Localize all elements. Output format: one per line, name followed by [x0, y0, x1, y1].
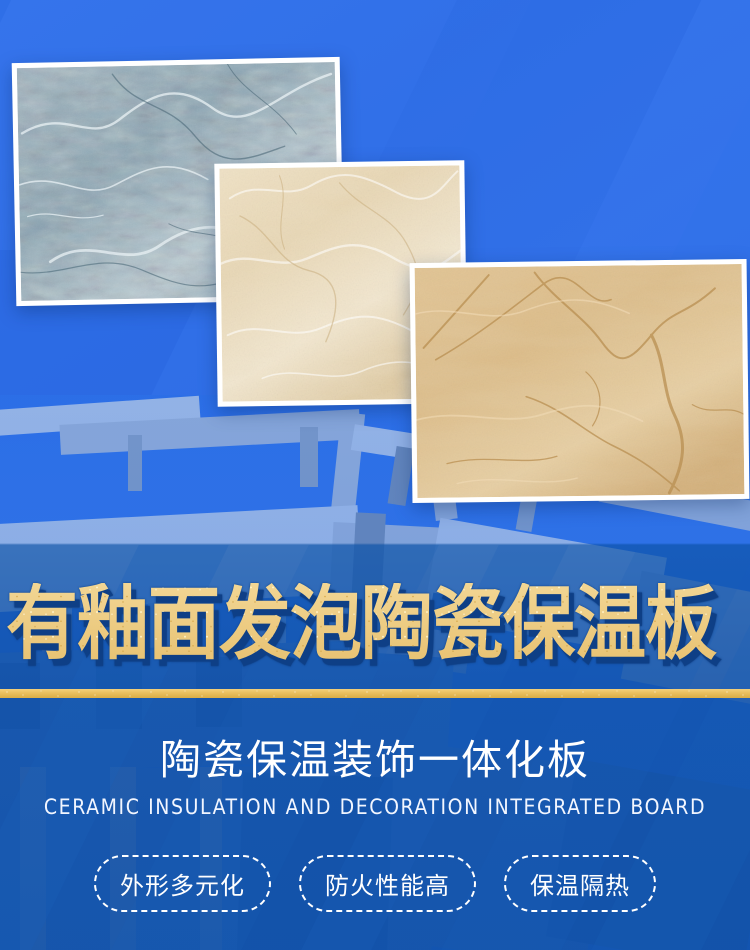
golden-beige-marble-tile: [415, 264, 745, 498]
subtitle-chinese: 陶瓷保温装饰一体化板: [0, 737, 750, 784]
gold-divider: [0, 689, 750, 698]
feature-badge-list: 外形多元化 防火性能高 保温隔热: [0, 853, 750, 913]
product-banner: 有釉面发泡陶瓷保温板 陶瓷保温装饰一体化板 CERAMIC INSULATION…: [0, 0, 750, 950]
page-title: 有釉面发泡陶瓷保温板: [6, 583, 746, 664]
feature-badge[interactable]: 外形多元化: [94, 855, 271, 912]
feature-badge[interactable]: 防火性能高: [299, 855, 476, 912]
feature-badge[interactable]: 保温隔热: [504, 855, 656, 912]
stone-sample-panel-3[interactable]: [410, 259, 750, 503]
subtitle-english: CERAMIC INSULATION AND DECORATION INTEGR…: [0, 795, 750, 819]
